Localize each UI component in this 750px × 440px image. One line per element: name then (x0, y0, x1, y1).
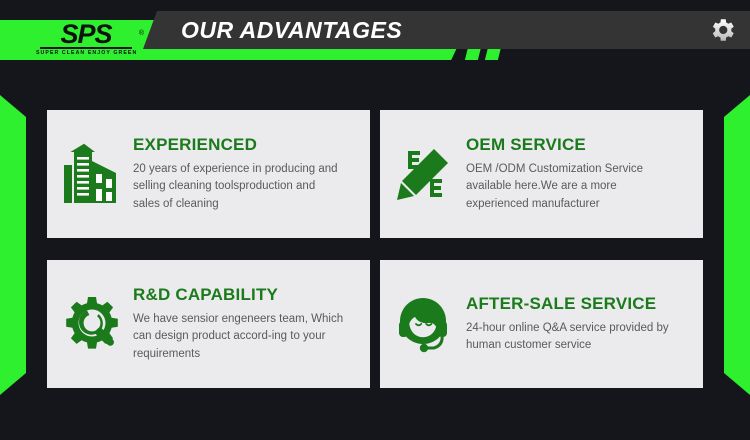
advantages-banner: OUR ADVANTAGES SPS ® SUPER CLEAN ENJOY G… (0, 0, 750, 440)
page-header: OUR ADVANTAGES SPS ® SUPER CLEAN ENJOY G… (0, 0, 750, 78)
advantage-card-oem-service[interactable]: OEM SERVICE OEM /ODM Customization Servi… (380, 110, 703, 238)
advantage-card-rd-capability[interactable]: R&D CAPABILITY We have sensior engeneers… (47, 260, 370, 388)
advantage-card-experienced[interactable]: EXPERIENCED 20 years of experience in pr… (47, 110, 370, 238)
logo-wordmark-text: SPS (60, 19, 111, 49)
card-body: R&D CAPABILITY We have sensior engeneers… (133, 285, 370, 364)
card-title: EXPERIENCED (133, 135, 356, 154)
card-description: 20 years of experience in producing and … (133, 161, 345, 214)
card-body: OEM SERVICE OEM /ODM Customization Servi… (466, 135, 703, 214)
page-title: OUR ADVANTAGES (181, 11, 402, 49)
card-body: EXPERIENCED 20 years of experience in pr… (133, 135, 370, 214)
pencil-oem-icon (380, 145, 466, 203)
right-accent-bar (724, 95, 750, 395)
advantage-card-grid: EXPERIENCED 20 years of experience in pr… (47, 110, 703, 388)
card-title: AFTER-SALE SERVICE (466, 294, 689, 313)
registered-trademark-icon: ® (139, 22, 143, 46)
logo-wordmark: SPS ® (36, 22, 136, 46)
factory-building-icon (47, 143, 133, 205)
gear-icon[interactable] (704, 12, 740, 48)
headset-support-icon (380, 294, 466, 354)
card-description: 24-hour online Q&A service provided by h… (466, 320, 678, 355)
card-description: OEM /ODM Customization Service available… (466, 161, 678, 214)
advantage-card-after-sale-service[interactable]: AFTER-SALE SERVICE 24-hour online Q&A se… (380, 260, 703, 388)
brand-logo[interactable]: SPS ® SUPER CLEAN ENJOY GREEN (36, 22, 136, 58)
card-body: AFTER-SALE SERVICE 24-hour online Q&A se… (466, 294, 703, 355)
logo-tagline: SUPER CLEAN ENJOY GREEN (36, 50, 136, 57)
header-title-banner: OUR ADVANTAGES (143, 11, 750, 49)
card-description: We have sensior engeneers team, Which ca… (133, 311, 345, 364)
card-title: OEM SERVICE (466, 135, 689, 154)
left-accent-bar (0, 95, 26, 395)
gear-wrench-icon (47, 295, 133, 353)
card-title: R&D CAPABILITY (133, 285, 356, 304)
